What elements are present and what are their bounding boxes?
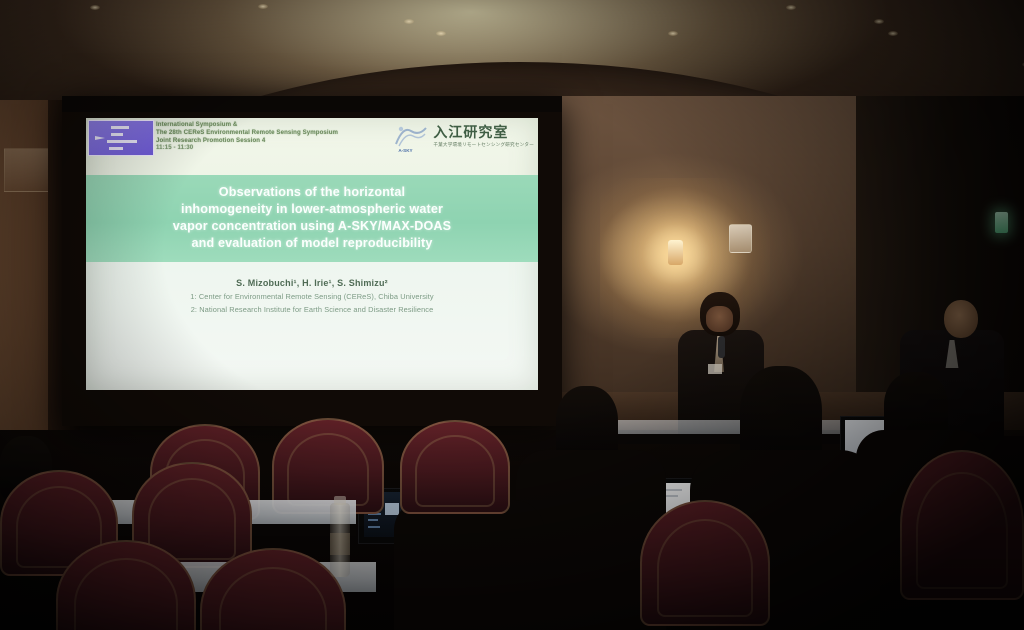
water-bottle — [330, 503, 350, 577]
ceiling-downlight — [258, 4, 268, 9]
header-line-1: International Symposium & — [156, 121, 406, 129]
chair — [900, 450, 1024, 600]
author-names: S. Mizobuchi¹, H. Irie¹, S. Shimizu² — [86, 278, 538, 288]
affiliation-2: 2: National Research Institute for Earth… — [86, 305, 538, 314]
lab-branding: A-SKY 入江研究室 千葉大学環境リモートセンシング研究センター — [393, 122, 534, 152]
laptop-screen-line — [368, 526, 380, 528]
wall-sconce-lamp-icon — [668, 240, 683, 265]
ceiling-downlight — [436, 31, 446, 36]
chair-back — [640, 500, 770, 626]
presentation-slide: International Symposium & The 28th CEReS… — [86, 118, 538, 390]
header-time: 11:15 - 11:30 — [156, 144, 406, 152]
ceiling-downlight — [404, 19, 414, 24]
microphone-icon — [718, 336, 725, 358]
seated-attendee-right-head — [944, 300, 978, 338]
ceiling-downlight — [668, 31, 678, 36]
ceiling-downlight — [874, 19, 884, 24]
header-line-2: The 28th CEReS Environmental Remote Sens… — [156, 129, 406, 137]
wall-speaker-icon — [729, 224, 752, 253]
emergency-exit-sign-icon — [995, 212, 1008, 233]
slide-title-band: Observations of the horizontal inhomogen… — [86, 175, 538, 262]
bottle-label — [330, 533, 350, 555]
slide-title-line-1: Observations of the horizontal — [92, 184, 532, 201]
chair — [200, 548, 346, 630]
affiliation-1: 1: Center for Environmental Remote Sensi… — [86, 292, 538, 301]
lab-subtitle-jp: 千葉大学環境リモートセンシング研究センター — [433, 142, 534, 148]
laptop-screen-line — [368, 519, 378, 521]
chair-back — [900, 450, 1024, 600]
lab-name-jp: 入江研究室 — [433, 126, 534, 140]
a-sky-logo-icon: A-SKY — [393, 122, 429, 152]
slide-authors-block: S. Mizobuchi¹, H. Irie¹, S. Shimizu² 1: … — [86, 278, 538, 314]
sconce-glow — [600, 178, 770, 338]
symposium-logo — [88, 120, 154, 156]
projection-screen-top-bar — [62, 96, 562, 112]
presenter-name-badge — [708, 364, 722, 374]
ceiling-downlight — [888, 31, 898, 36]
presenter-face — [706, 306, 733, 332]
chair-back — [400, 420, 510, 514]
slide-header: International Symposium & The 28th CEReS… — [86, 118, 538, 173]
chair — [640, 500, 770, 626]
header-line-3: Joint Research Promotion Session 4 — [156, 137, 406, 145]
chair-back — [200, 548, 346, 630]
slide-title-line-3: vapor concentration using A-SKY/MAX-DOAS — [92, 218, 532, 235]
slide-title-line-4: and evaluation of model reproducibility — [92, 235, 532, 252]
slide-header-lines: International Symposium & The 28th CEReS… — [156, 121, 406, 152]
bottle-cap — [334, 496, 346, 505]
slide-title-line-2: inhomogeneity in lower-atmospheric water — [92, 201, 532, 218]
chair — [400, 420, 510, 514]
audience-member-body — [394, 500, 544, 630]
a-sky-logo-tag: A-SKY — [398, 148, 412, 153]
ceiling-downlight — [90, 5, 100, 10]
ceiling-downlight — [786, 5, 796, 10]
conference-room-photo: International Symposium & The 28th CEReS… — [0, 0, 1024, 630]
chair — [56, 540, 196, 630]
chair-back — [56, 540, 196, 630]
laptop-window — [385, 503, 399, 515]
